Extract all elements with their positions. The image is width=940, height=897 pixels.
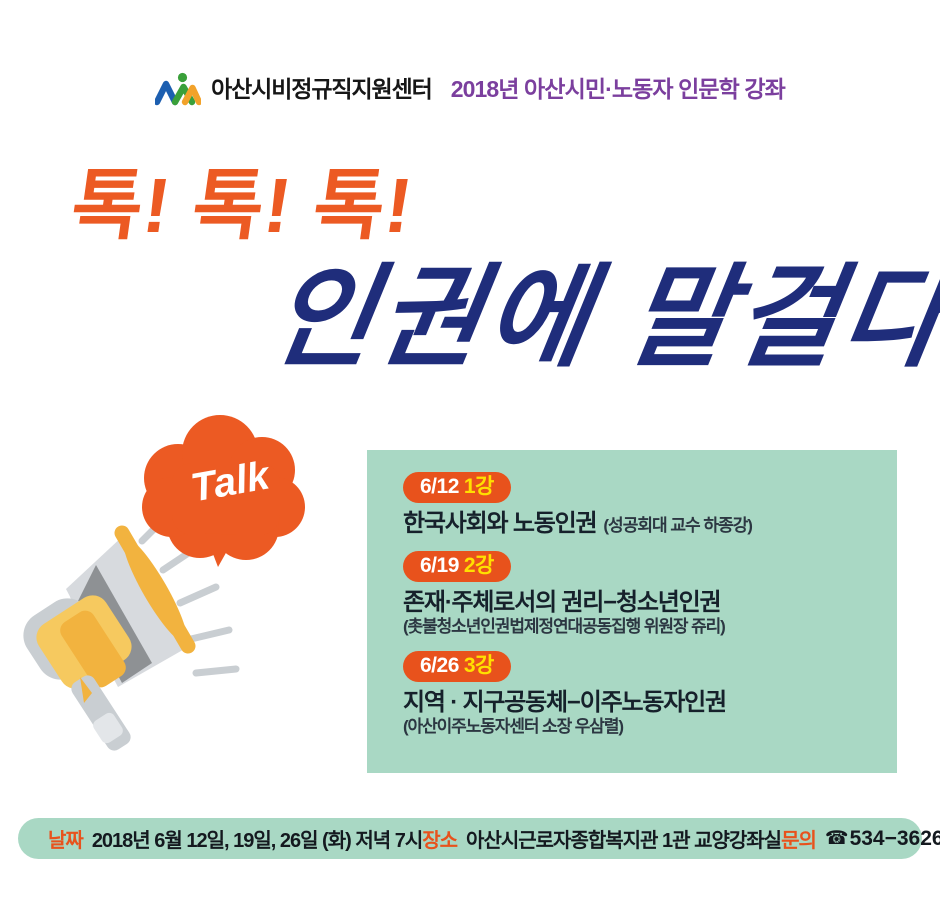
footer-date-value: 2018년 6월 12일, 19일, 26일 (화) 저녁 7시 (92, 824, 422, 853)
session-item-3: 6/263강 지역 · 지구공동체−이주노동자인권 (아산이주노동자센터 소장 … (367, 651, 897, 738)
footer-phone-number: 534−3626 (850, 827, 940, 851)
footer-contact-label: 문의 (781, 824, 816, 853)
footer-date-label: 날짜 (48, 824, 83, 853)
footer-place-label: 장소 (422, 824, 457, 853)
session-date-1: 6/12 (420, 475, 459, 498)
course-title: 2018년 아산시민·노동자 인문학 강좌 (451, 78, 785, 101)
session-lecturer-1: (성공회대 교수 하종강) (603, 516, 752, 535)
poster-header: 아산시비정규직지원센터 2018년 아산시민·노동자 인문학 강좌 (0, 72, 940, 106)
session-date-3: 6/26 (420, 654, 459, 677)
talk-speech-bubble (142, 415, 305, 567)
main-headline: 인권에 말걸다 (262, 252, 940, 384)
footer-place-value: 아산시근로자종합복지관 1관 교양강좌실 (466, 824, 781, 853)
session-badge-2: 6/192강 (403, 551, 511, 582)
session-lesson-2: 2강 (464, 554, 494, 577)
session-title-2: 존재·주체로서의 권리−청소년인권 (403, 589, 897, 617)
session-lesson-1: 1강 (464, 475, 494, 498)
session-lecturer-3: (아산이주노동자센터 소장 우삼렬) (403, 717, 897, 737)
session-lesson-3: 3강 (464, 654, 494, 677)
organization-name: 아산시비정규직지원센터 (211, 78, 432, 101)
session-title-1: 한국사회와 노동인권(성공회대 교수 하종강) (403, 510, 897, 538)
session-badge-1: 6/121강 (403, 472, 511, 503)
session-lecturer-2: (촛불청소년인권법제정연대공동집행 위원장 쥬리) (403, 617, 897, 637)
session-title-3: 지역 · 지구공동체−이주노동자인권 (403, 689, 897, 717)
tok-tagline: 톡! 톡! 톡! (67, 168, 418, 245)
telephone-icon: ☎ (825, 827, 849, 850)
schedule-panel: 6/121강 한국사회와 노동인권(성공회대 교수 하종강) 6/192강 존재… (367, 450, 897, 773)
session-item-1: 6/121강 한국사회와 노동인권(성공회대 교수 하종강) (367, 472, 897, 538)
asan-center-logo-icon (155, 72, 201, 106)
poster-canvas: 아산시비정규직지원센터 2018년 아산시민·노동자 인문학 강좌 톡! 톡! … (0, 0, 940, 897)
footer-info-bar: 날짜 2018년 6월 12일, 19일, 26일 (화) 저녁 7시 장소 아… (18, 818, 922, 859)
session-date-2: 6/19 (420, 554, 459, 577)
session-badge-3: 6/263강 (403, 651, 511, 682)
session-title-text-1: 한국사회와 노동인권 (403, 510, 596, 537)
megaphone-icon (0, 415, 330, 785)
session-item-2: 6/192강 존재·주체로서의 권리−청소년인권 (촛불청소년인권법제정연대공동… (367, 551, 897, 638)
